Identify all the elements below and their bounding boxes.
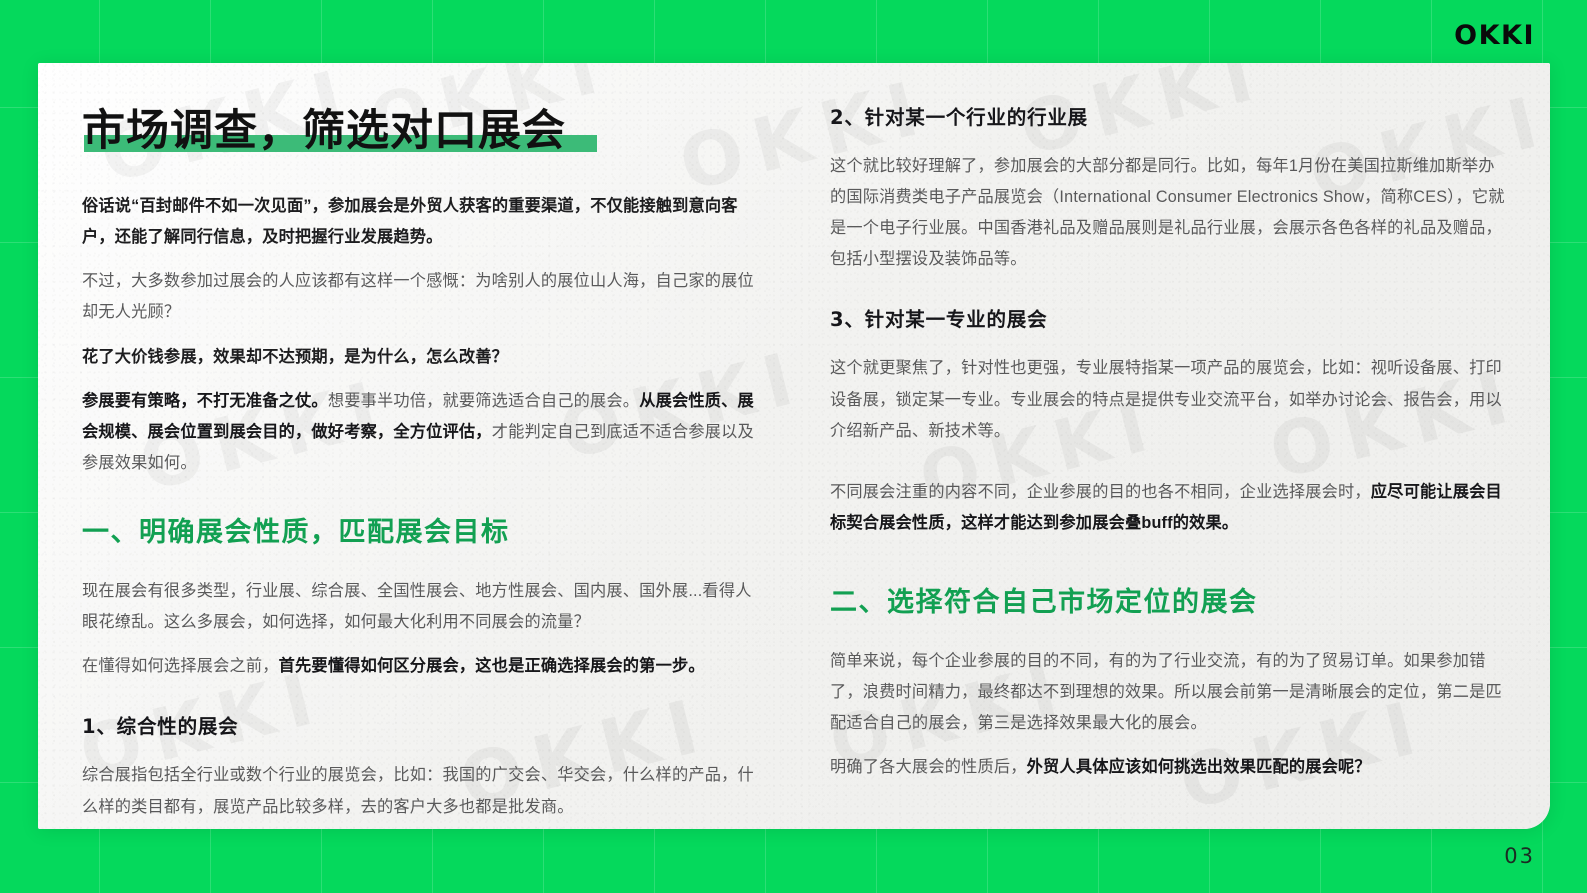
right-paragraph-5-normal-1: 明确了各大展会的性质后， [830,758,1027,776]
right-paragraph-1: 这个就比较好理解了，参加展会的大部分都是同行。比如，每年1月份在美国拉斯维加斯举… [830,151,1506,275]
intro-paragraph: 俗话说“百封邮件不如一次见面”，参加展会是外贸人获客的重要渠道，不仅能接触到意向… [82,191,766,253]
right-paragraph-2: 这个就更聚焦了，针对性也更强，专业展特指某一项产品的展览会，比如：视听设备展、打… [830,353,1506,446]
paragraph-6-bold-1: 首先要懂得如何区分展会，这也是正确选择展会的第一步。 [279,657,705,675]
page-title: 市场调查，筛选对口展会 [82,107,566,155]
paragraph-7: 综合展指包括全行业或数个行业的展览会，比如：我国的广交会、华交会，什么样的产品，… [82,760,766,822]
section-heading-1: 一、明确展会性质，匹配展会目标 [82,515,766,550]
slide-card: OKKI OKKI OKKI OKKI OKKI OKKI OKKI OKKI … [38,63,1550,829]
paragraph-4-normal-1: 想要事半功倍，就要筛选适合自己的展会。 [328,392,639,410]
paragraph-3: 花了大价钱参展，效果却不达预期，是为什么，怎么改善？ [82,342,766,373]
okki-logo: OKKI [1454,20,1535,51]
right-paragraph-3-normal-1: 不同展会注重的内容不同，企业参展的目的也各不相同，企业选择展会时， [830,483,1371,501]
page-number: 03 [1504,844,1535,868]
sub-heading-2: 2、针对某一个行业的行业展 [830,101,1506,130]
paragraph-4-bold-1: 参展要有策略，不打无准备之仗。 [82,392,328,410]
right-paragraph-5-bold-1: 外贸人具体应该如何挑选出效果匹配的展会呢？ [1027,758,1371,776]
sub-heading-1: 1、综合性的展会 [82,710,766,739]
page-title-wrapper: 市场调查，筛选对口展会 [82,107,566,155]
left-column: 市场调查，筛选对口展会 俗话说“百封邮件不如一次见面”，参加展会是外贸人获客的重… [82,101,794,829]
content-columns: 市场调查，筛选对口展会 俗话说“百封邮件不如一次见面”，参加展会是外贸人获客的重… [38,63,1550,829]
section-heading-2: 二、选择符合自己市场定位的展会 [830,585,1506,620]
right-paragraph-4: 简单来说，每个企业参展的目的不同，有的为了行业交流，有的为了贸易订单。如果参加错… [830,646,1506,739]
right-paragraph-3: 不同展会注重的内容不同，企业参展的目的也各不相同，企业选择展会时，应尽可能让展会… [830,477,1506,539]
right-column: 2、针对某一个行业的行业展 这个就比较好理解了，参加展会的大部分都是同行。比如，… [794,101,1506,829]
sub-heading-3: 3、针对某一专业的展会 [830,303,1506,332]
paragraph-2: 不过，大多数参加过展会的人应该都有这样一个感慨：为啥别人的展位山人海，自己家的展… [82,266,766,328]
right-paragraph-5: 明确了各大展会的性质后，外贸人具体应该如何挑选出效果匹配的展会呢？ [830,752,1506,783]
paragraph-6-normal-1: 在懂得如何选择展会之前， [82,657,279,675]
paragraph-6: 在懂得如何选择展会之前，首先要懂得如何区分展会，这也是正确选择展会的第一步。 [82,651,766,682]
paragraph-5: 现在展会有很多类型，行业展、综合展、全国性展会、地方性展会、国内展、国外展...… [82,576,766,638]
paragraph-4: 参展要有策略，不打无准备之仗。想要事半功倍，就要筛选适合自己的展会。从展会性质、… [82,386,766,479]
